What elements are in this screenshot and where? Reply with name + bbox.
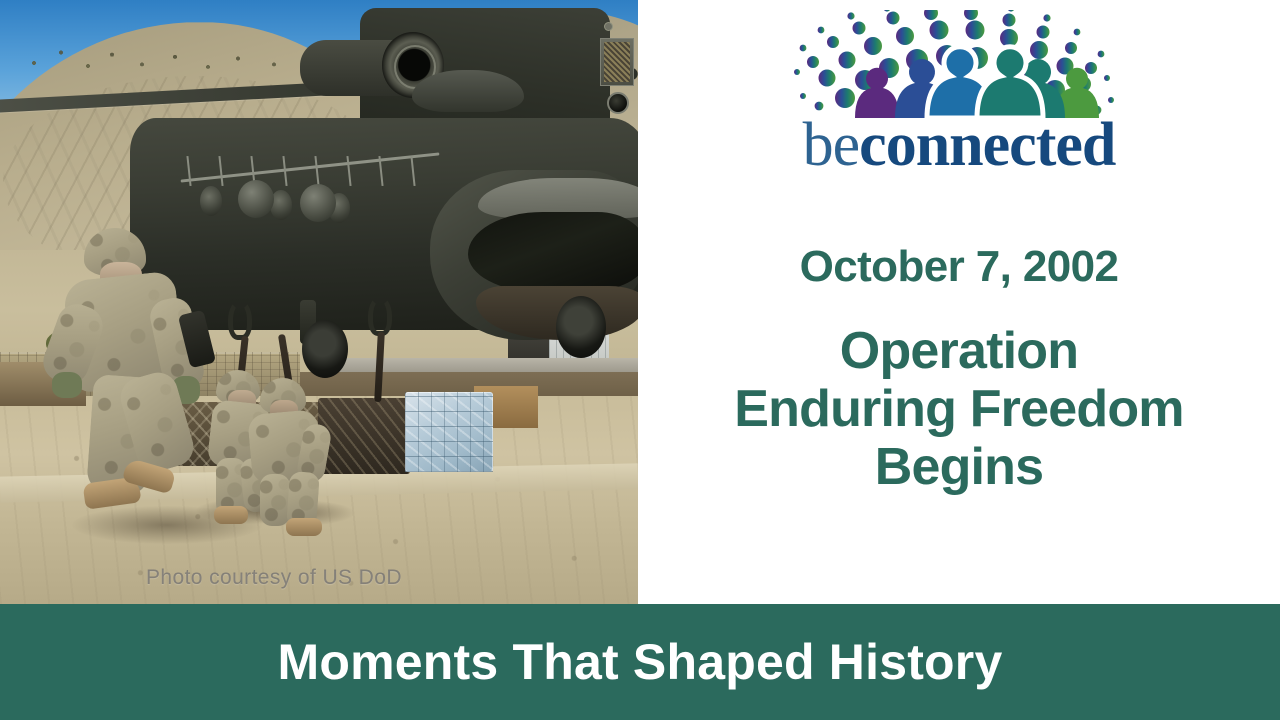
event-title-line-1: Operation [734,322,1183,380]
historical-photo: Photo courtesy of US DoD [0,0,638,604]
event-title-line-2: Enduring Freedom [734,380,1183,438]
soldier-boot [214,506,248,524]
cockpit-window [468,212,638,292]
photo-scene: Photo courtesy of US DoD [0,0,638,604]
wordmark-be: be [803,111,860,179]
intake-grille [600,38,634,86]
people-silhouettes [855,47,1099,118]
series-banner: Moments That Shaped History [0,604,1280,720]
soldier-leg [260,474,290,526]
event-title-line-3: Begins [734,438,1183,496]
access-port [607,92,629,114]
event-date: October 7, 2002 [800,242,1119,292]
photo-credit: Photo courtesy of US DoD [146,566,402,590]
content-panel: beconnected October 7, 2002 Operation En… [638,0,1280,604]
sling-hook [228,300,252,340]
landing-wheel [302,320,348,378]
window-blister [238,180,274,218]
soldier-boot [286,518,322,536]
beconnected-wordmark: beconnected [759,114,1159,176]
beconnected-dots-people-logo [759,10,1159,118]
soldier-rear [246,378,330,528]
wordmark-connected: connected [859,111,1115,179]
hull-fitting [604,22,613,31]
window-blister [300,184,336,222]
landing-wheel [556,296,606,358]
series-title: Moments That Shaped History [278,633,1003,691]
beconnected-logo: beconnected [759,10,1159,190]
rotor-hub [412,70,524,112]
presentation-slide: Photo courtesy of US DoD [0,0,1280,720]
sling-hook [368,296,392,336]
cargo-strap [374,332,385,402]
soldier-foreground [62,228,208,528]
antenna-rack [180,146,440,190]
event-title: Operation Enduring Freedom Begins [734,322,1183,497]
cabin-window [200,186,222,216]
soldier-glove [52,372,82,398]
